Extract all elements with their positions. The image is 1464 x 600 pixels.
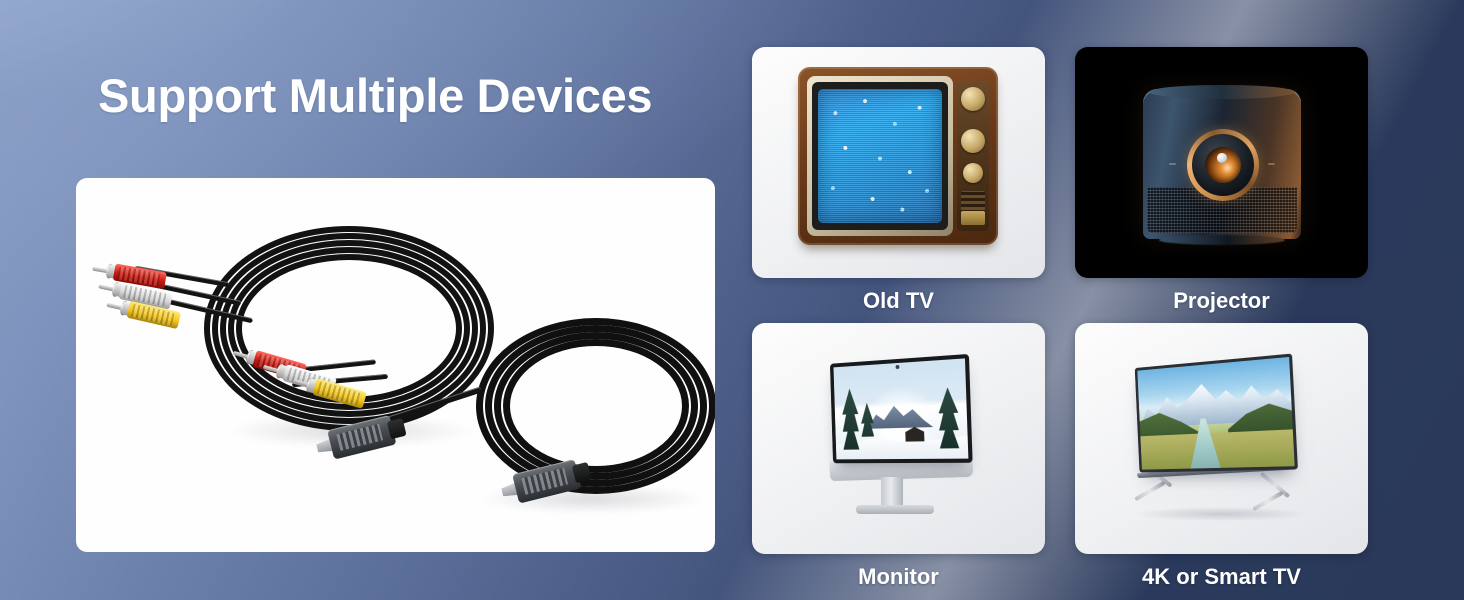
projector-lens-barrel <box>1192 134 1254 196</box>
projector-image-card <box>1075 47 1368 278</box>
device-label-monitor: Monitor <box>752 564 1045 590</box>
monitor-webcam <box>895 365 899 369</box>
monitor-wallpaper-cabin <box>905 427 924 442</box>
monitor-wallpaper-mountains <box>867 402 934 429</box>
smart-tv-screen <box>1135 354 1298 473</box>
old-tv-control-panel <box>957 81 989 231</box>
projector-indicator-left <box>1169 163 1176 165</box>
projector-icon <box>1103 73 1341 253</box>
projector-body <box>1143 89 1301 239</box>
old-tv-inner-bezel <box>812 82 948 230</box>
promo-banner: Support Multiple Devices <box>0 0 1464 600</box>
old-tv-knob <box>963 163 983 183</box>
smart-tv-icon <box>1075 323 1368 554</box>
smart-tv-wallpaper-valley <box>1137 357 1294 470</box>
smart-tv-leg <box>1134 481 1165 501</box>
device-card-smart-tv[interactable]: 4K or Smart TV <box>1075 323 1368 590</box>
smart-tv-shadow <box>1137 507 1305 521</box>
old-tv-knob <box>961 129 985 153</box>
device-label-smart-tv: 4K or Smart TV <box>1075 564 1368 590</box>
monitor-icon <box>752 323 1045 554</box>
hdmi-cable-coil <box>476 318 715 498</box>
old-tv-brand-plate <box>961 211 985 225</box>
device-card-projector[interactable]: Projector <box>1075 47 1368 314</box>
old-tv-knob <box>961 87 985 111</box>
page-title: Support Multiple Devices <box>98 68 652 123</box>
monitor-wallpaper-tree <box>841 388 859 450</box>
projector-lens <box>1187 129 1259 201</box>
old-tv-icon <box>798 67 998 245</box>
old-tv-image-card <box>752 47 1045 278</box>
device-label-old-tv: Old TV <box>752 288 1045 314</box>
supported-devices-grid: Old TV <box>752 47 1368 587</box>
projector-top-rim <box>1149 85 1295 99</box>
projector-lens-glass <box>1205 147 1241 183</box>
projector-base <box>1159 235 1285 245</box>
monitor-stand-neck <box>881 477 903 507</box>
monitor-image-card <box>752 323 1045 554</box>
product-image-panel <box>76 178 715 552</box>
monitor-stand-base <box>856 505 934 514</box>
monitor-screen <box>830 354 973 463</box>
monitor-wallpaper-winter <box>834 358 969 459</box>
device-label-projector: Projector <box>1075 288 1368 314</box>
device-card-old-tv[interactable]: Old TV <box>752 47 1045 314</box>
device-card-monitor[interactable]: Monitor <box>752 323 1045 590</box>
smart-tv-image-card <box>1075 323 1368 554</box>
old-tv-static-screen <box>818 89 942 223</box>
projector-indicator-right <box>1268 163 1275 165</box>
old-tv-bezel <box>807 76 953 236</box>
